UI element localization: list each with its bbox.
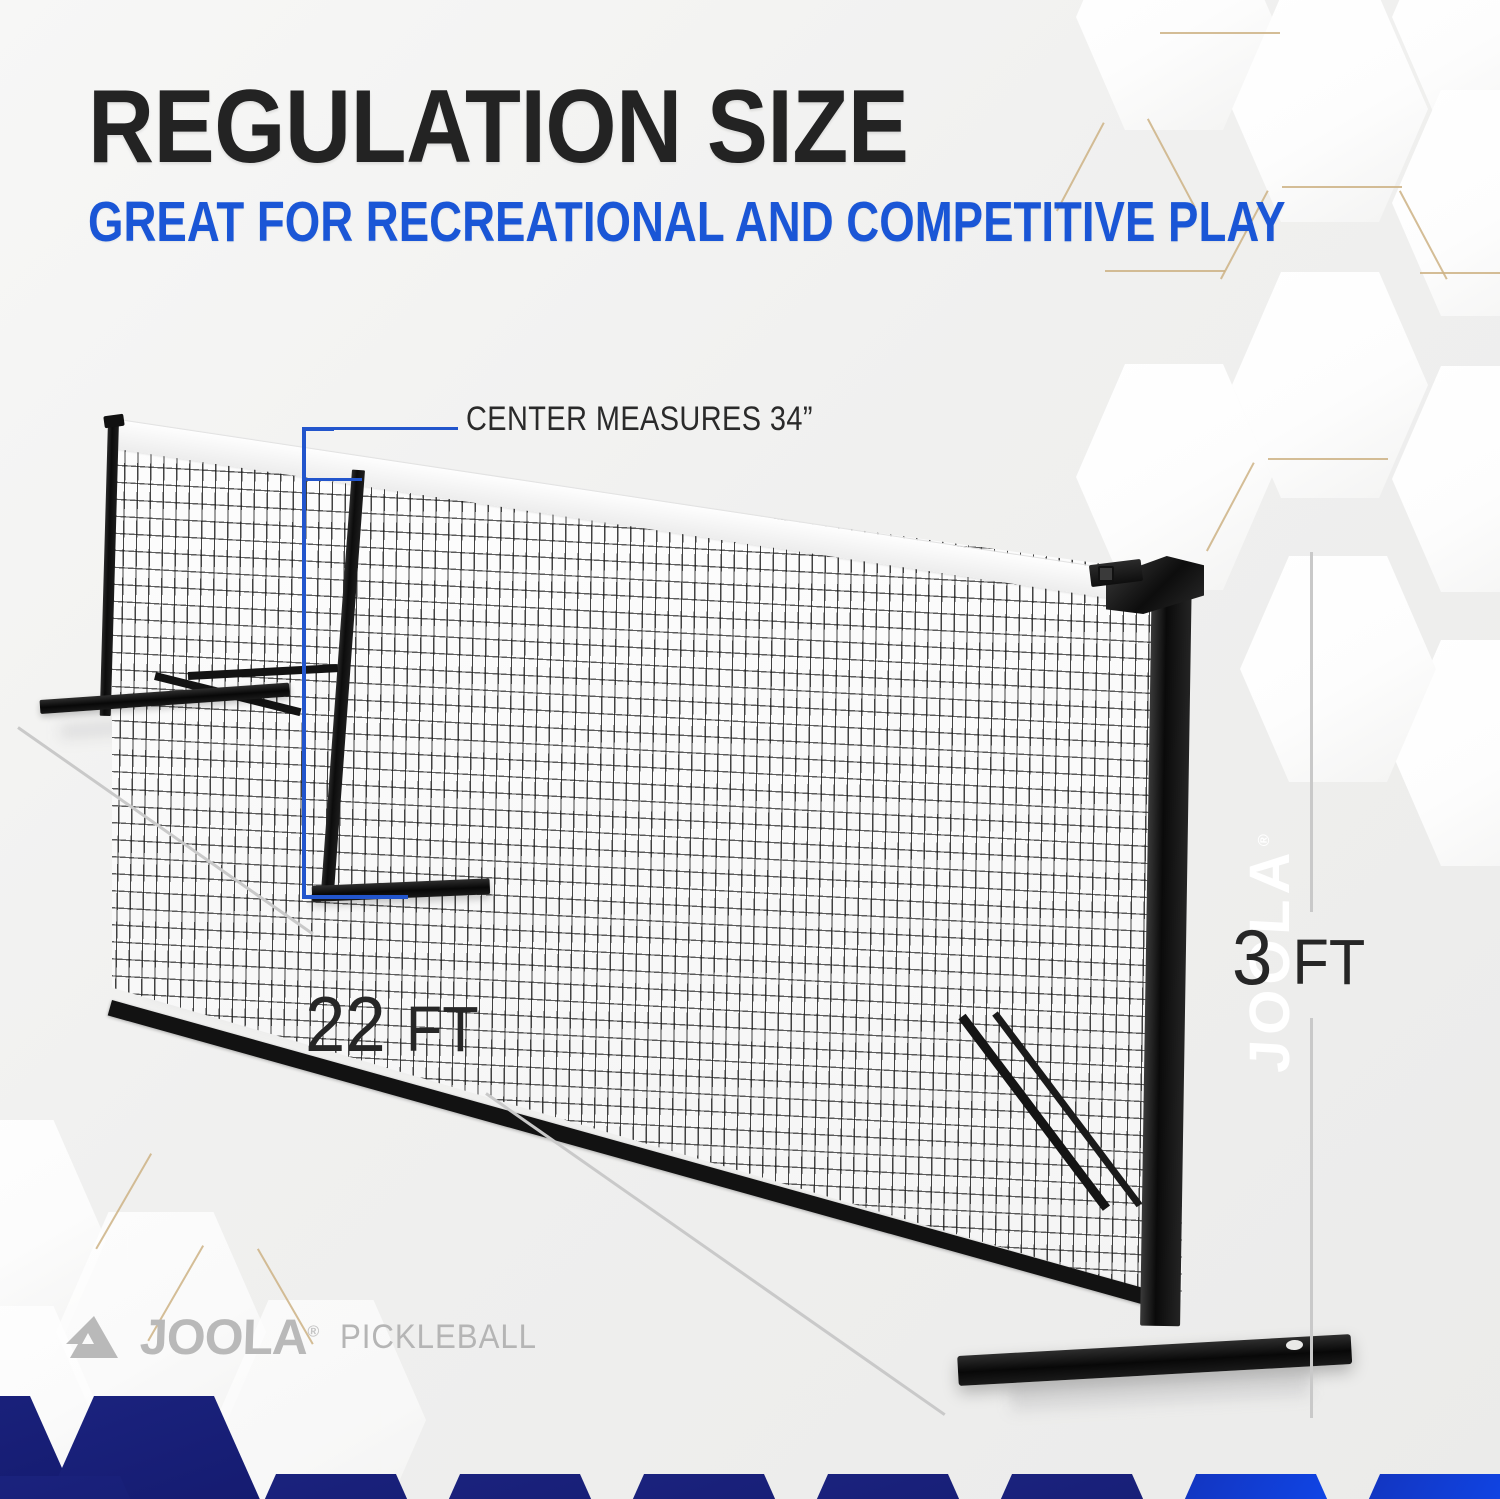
length-unit: FT [406, 993, 479, 1065]
image-canvas: REGULATION SIZE GREAT FOR RECREATIONAL A… [0, 0, 1500, 1499]
hexagon-bright-blue [1320, 1474, 1500, 1499]
center-bracket-inner-vertical [302, 478, 305, 898]
hexagon-outline [1206, 462, 1254, 551]
dimension-line-height [1310, 1018, 1313, 1418]
page-subtitle: GREAT FOR RECREATIONAL AND COMPETITIVE P… [88, 194, 1286, 251]
net-foot-right [957, 1334, 1352, 1386]
net-header-band [108, 418, 1171, 607]
hexagon-bright-blue [1136, 1474, 1376, 1499]
hexagon-navy [768, 1474, 1008, 1499]
page-title: REGULATION SIZE [88, 78, 1405, 178]
ground-shadow [1010, 1370, 1311, 1412]
net-foot-brace-left [188, 664, 338, 680]
hexagon-decor [1076, 364, 1272, 590]
net-post-center [321, 470, 365, 900]
dimension-line-height [1310, 552, 1313, 912]
net-post-left [100, 420, 119, 716]
hexagon-navy [34, 1396, 274, 1499]
dimension-label-length: 22 FT [305, 985, 479, 1063]
hexagon-outline [1160, 32, 1280, 34]
center-bracket-bottom [302, 895, 408, 899]
center-measurement-callout: CENTER MEASURES 34” [466, 400, 813, 439]
net-foot-hole [1286, 1340, 1304, 1351]
net-mesh-texture [112, 420, 1182, 1300]
height-unit: FT [1293, 926, 1366, 998]
post-brand-registered: ® [1256, 833, 1273, 846]
net-diagonal-brace [958, 1014, 1110, 1211]
ground-shadow [60, 708, 281, 739]
brand-footer: JOOLA® PICKLEBALL [64, 1312, 554, 1362]
dimension-label-height: 3 FT [1232, 918, 1365, 996]
headline-block: REGULATION SIZE GREAT FOR RECREATIONAL A… [88, 78, 1500, 251]
height-value: 3 [1232, 913, 1272, 1001]
net-bottom-tape [108, 1000, 1147, 1304]
hexagon-outline [1105, 270, 1225, 272]
dimension-line-length [485, 1092, 945, 1416]
callout-leader-line [330, 427, 458, 430]
brand-wordmark: JOOLA® [139, 1312, 319, 1362]
net-mesh-panel [112, 420, 1182, 1300]
net-post-right [1140, 566, 1192, 1327]
net-strap-buckle [1098, 566, 1114, 582]
hexagon-navy [584, 1474, 824, 1499]
hexagon-decor [1392, 640, 1500, 866]
hexagon-navy [400, 1474, 640, 1499]
hexagon-outline [1268, 458, 1388, 460]
hexagon-decor [1232, 272, 1428, 498]
net-diagonal-brace [992, 1011, 1142, 1207]
net-foot-left [40, 683, 290, 714]
net-post-right-cap [1106, 556, 1204, 614]
hexagon-decor [1392, 366, 1500, 592]
net-foot-brace-left [154, 672, 301, 716]
net-tension-strap [1089, 559, 1143, 587]
brand-category: PICKLEBALL [340, 1318, 537, 1357]
ground-shadow [146, 961, 1065, 1229]
hexagon-outline [95, 1153, 151, 1249]
hexagon-outline [1420, 272, 1500, 274]
length-value: 22 [305, 980, 386, 1068]
hexagon-navy [0, 1476, 180, 1499]
net-post-left-cap [103, 414, 124, 429]
hexagon-navy [952, 1474, 1192, 1499]
hexagon-navy [0, 1396, 90, 1499]
dimension-line-length [17, 726, 314, 935]
brand-registered-icon: ® [307, 1323, 318, 1340]
hexagon-decor [1240, 556, 1436, 782]
joola-triangle-icon [64, 1314, 118, 1360]
center-bracket-inner-top [302, 478, 362, 481]
hexagon-navy [216, 1474, 456, 1499]
brand-wordmark-text: JOOLA [139, 1309, 308, 1365]
